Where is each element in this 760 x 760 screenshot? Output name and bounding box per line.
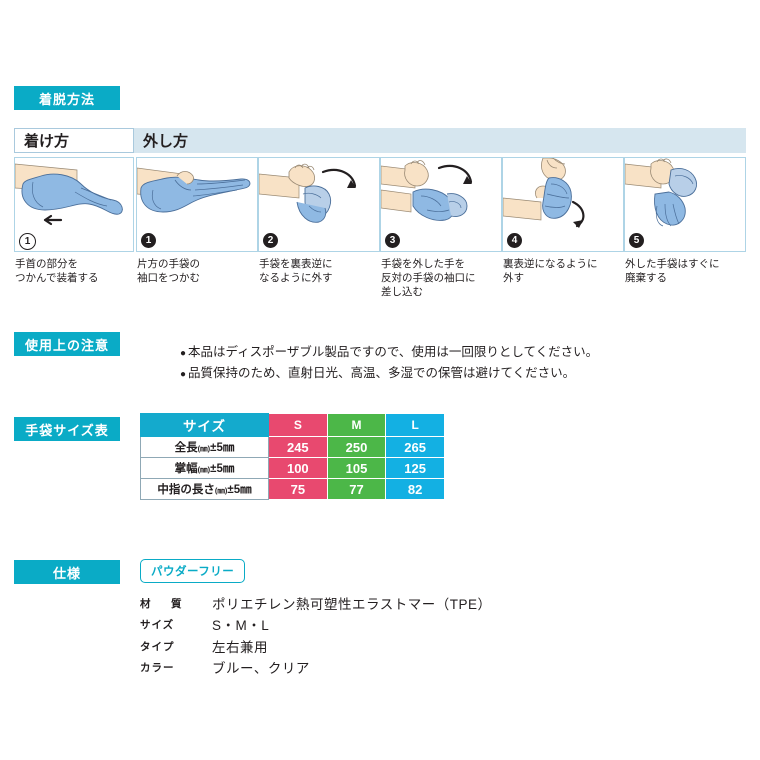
section-badge-cautions: 使用上の注意 bbox=[14, 332, 120, 356]
cell-middle-finger-m: 77 bbox=[327, 479, 386, 500]
cell-total-length-s: 245 bbox=[269, 437, 328, 458]
spec-key-type: タイプ bbox=[140, 637, 212, 658]
step-caption: 片方の手袋の袖口をつかむ bbox=[136, 252, 258, 285]
step-illustration bbox=[258, 157, 380, 231]
cell-palm-width-s: 100 bbox=[269, 458, 328, 479]
spec-row: 材 質 ポリエチレン熱可塑性エラストマー（TPE） bbox=[140, 594, 746, 615]
row-label-unit: (㎜) bbox=[215, 486, 228, 495]
section-badge-size-table: 手袋サイズ表 bbox=[14, 417, 120, 441]
step-number: 3 bbox=[385, 233, 400, 248]
table-header-s: S bbox=[269, 414, 328, 437]
row-label-tolerance: ±5㎜ bbox=[227, 484, 251, 496]
step-caption: 手首の部分をつかんで装着する bbox=[14, 252, 136, 285]
donning-doffing-section: 着脱方法 着け方 外し方 1 手首の部分をつかんで装着する bbox=[14, 86, 746, 300]
step-number: 2 bbox=[263, 233, 278, 248]
row-label-tolerance: ±5㎜ bbox=[210, 463, 234, 475]
table-row: 全長(㎜)±5㎜ 245 250 265 bbox=[141, 437, 445, 458]
step-panel: 1 手首の部分をつかんで装着する bbox=[14, 157, 136, 300]
step-caption: 手袋を裏表逆になるように外す bbox=[258, 252, 380, 285]
step-illustration bbox=[380, 157, 502, 231]
section-badge-donning: 着脱方法 bbox=[14, 86, 120, 110]
step-illustration bbox=[14, 157, 134, 231]
method-header-don: 着け方 bbox=[14, 128, 134, 153]
step-number-bar: 5 bbox=[624, 231, 746, 252]
peel-glove-inside-out-icon bbox=[259, 158, 379, 231]
spec-row: カラー ブルー、クリア bbox=[140, 658, 746, 679]
method-header-row: 着け方 外し方 bbox=[14, 128, 746, 153]
pull-off-inside-out-icon bbox=[503, 158, 623, 231]
step-panel: 2 手袋を裏表逆になるように外す bbox=[258, 157, 380, 300]
table-row: 中指の長さ(㎜)±5㎜ 75 77 82 bbox=[141, 479, 445, 500]
spec-value-material: ポリエチレン熱可塑性エラストマー（TPE） bbox=[212, 594, 492, 615]
cell-middle-finger-l: 82 bbox=[386, 479, 445, 500]
glove-size-table: サイズ S M L 全長(㎜)±5㎜ 245 250 265 掌幅(㎜)±5㎜ … bbox=[140, 413, 445, 500]
row-label-tolerance: ±5㎜ bbox=[210, 442, 234, 454]
spec-row: タイプ 左右兼用 bbox=[140, 637, 746, 658]
row-label-text: 中指の長さ bbox=[157, 484, 215, 496]
grip-cuff-icon bbox=[137, 158, 257, 231]
step-caption: 裏表逆になるように外す bbox=[502, 252, 624, 285]
caution-item: ●品質保持のため、直射日光、高温、多湿での保管は避けてください。 bbox=[180, 363, 746, 385]
step-panel-list: 1 手首の部分をつかんで装着する 1 片方の手 bbox=[14, 157, 746, 300]
step-caption: 外した手袋はすぐに廃棄する bbox=[624, 252, 746, 285]
spec-value-size: S・M・L bbox=[212, 615, 269, 636]
step-illustration bbox=[136, 157, 258, 231]
cell-palm-width-m: 105 bbox=[327, 458, 386, 479]
table-header-row: サイズ S M L bbox=[141, 414, 445, 437]
cell-middle-finger-s: 75 bbox=[269, 479, 328, 500]
spec-row: サイズ S・M・L bbox=[140, 615, 746, 636]
cell-total-length-m: 250 bbox=[327, 437, 386, 458]
step-number-bar: 2 bbox=[258, 231, 380, 252]
table-header-size-label: サイズ bbox=[141, 414, 269, 437]
step-panel: 5 外した手袋はすぐに廃棄する bbox=[624, 157, 746, 300]
cell-palm-width-l: 125 bbox=[386, 458, 445, 479]
step-number-bar: 4 bbox=[502, 231, 624, 252]
row-label-unit: (㎜) bbox=[198, 465, 211, 474]
caution-item: ●本品はディスポーザブル製品ですので、使用は一回限りとしてください。 bbox=[180, 342, 746, 364]
cell-total-length-l: 265 bbox=[386, 437, 445, 458]
row-label-middle-finger-length: 中指の長さ(㎜)±5㎜ bbox=[141, 479, 269, 500]
glove-donning-icon bbox=[15, 158, 134, 231]
section-badge-specification: 仕様 bbox=[14, 560, 120, 584]
size-table-section: 手袋サイズ表 サイズ S M L 全長(㎜)±5㎜ 245 250 265 掌幅… bbox=[14, 413, 746, 500]
row-label-palm-width: 掌幅(㎜)±5㎜ bbox=[141, 458, 269, 479]
specification-section: 仕様 パウダーフリー 材 質 ポリエチレン熱可塑性エラストマー（TPE） サイズ… bbox=[14, 558, 746, 679]
step-number: 4 bbox=[507, 233, 522, 248]
step-panel: 3 手袋を外した手を反対の手袋の袖口に差し込む bbox=[380, 157, 502, 300]
bullet-icon: ● bbox=[180, 369, 186, 380]
row-label-text: 全長 bbox=[175, 442, 198, 454]
step-panel: 4 裏表逆になるように外す bbox=[502, 157, 624, 300]
step-number-bar: 1 bbox=[136, 231, 258, 252]
step-illustration bbox=[624, 157, 746, 231]
step-number-bar: 1 bbox=[14, 231, 134, 252]
spec-key-color: カラー bbox=[140, 658, 212, 679]
row-label-text: 掌幅 bbox=[175, 463, 198, 475]
insert-hand-into-cuff-icon bbox=[381, 158, 501, 231]
spec-value-color: ブルー、クリア bbox=[212, 658, 310, 679]
caution-text: 品質保持のため、直射日光、高温、多湿での保管は避けてください。 bbox=[188, 366, 575, 380]
step-number: 5 bbox=[629, 233, 644, 248]
bullet-icon: ● bbox=[180, 348, 186, 359]
row-label-total-length: 全長(㎜)±5㎜ bbox=[141, 437, 269, 458]
step-number-bar: 3 bbox=[380, 231, 502, 252]
spec-key-material: 材 質 bbox=[140, 594, 212, 615]
caution-list: ●本品はディスポーザブル製品ですので、使用は一回限りとしてください。 ●品質保持… bbox=[140, 342, 746, 386]
spec-value-type: 左右兼用 bbox=[212, 637, 268, 658]
step-number: 1 bbox=[19, 233, 36, 250]
row-label-unit: (㎜) bbox=[198, 444, 211, 453]
spec-key-size: サイズ bbox=[140, 615, 212, 636]
caution-text: 本品はディスポーザブル製品ですので、使用は一回限りとしてください。 bbox=[188, 345, 598, 359]
method-header-doff: 外し方 bbox=[134, 128, 746, 153]
step-panel: 1 片方の手袋の袖口をつかむ bbox=[136, 157, 258, 300]
table-row: 掌幅(㎜)±5㎜ 100 105 125 bbox=[141, 458, 445, 479]
table-header-l: L bbox=[386, 414, 445, 437]
cautions-section: 使用上の注意 ●本品はディスポーザブル製品ですので、使用は一回限りとしてください… bbox=[14, 329, 746, 398]
discard-glove-icon bbox=[625, 158, 745, 231]
table-header-m: M bbox=[327, 414, 386, 437]
step-caption: 手袋を外した手を反対の手袋の袖口に差し込む bbox=[380, 252, 502, 300]
step-number: 1 bbox=[141, 233, 156, 248]
step-illustration bbox=[502, 157, 624, 231]
powder-free-badge: パウダーフリー bbox=[140, 559, 245, 583]
